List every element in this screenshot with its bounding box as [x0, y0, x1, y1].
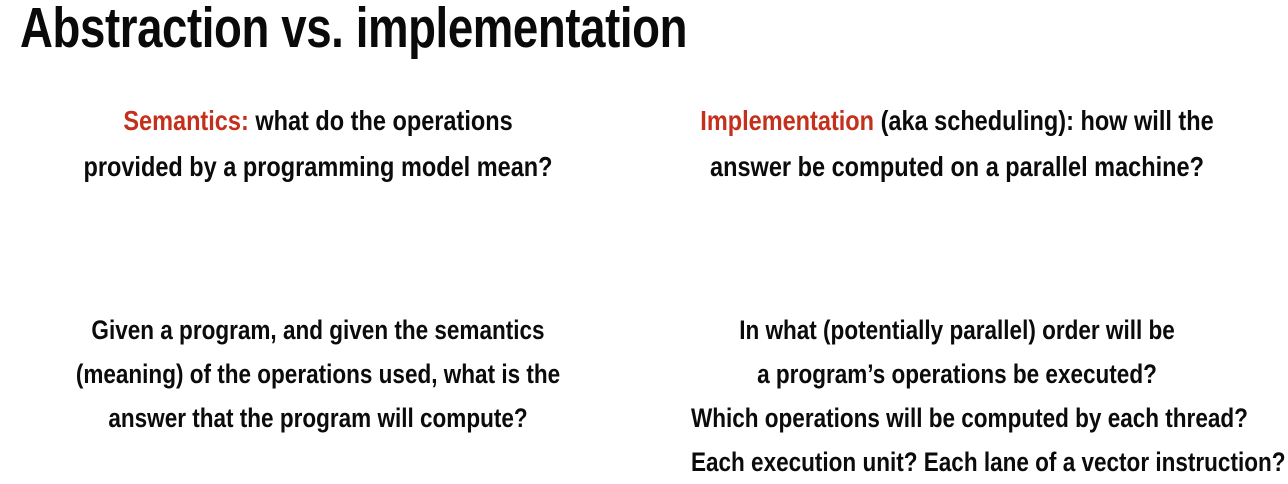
implementation-headline-line-1: Implementation (aka scheduling): how wil…	[689, 98, 1224, 144]
implementation-headline: Implementation (aka scheduling): how wil…	[644, 98, 1270, 190]
two-column-body: Semantics: what do the operations provid…	[0, 98, 1288, 484]
column-semantics: Semantics: what do the operations provid…	[0, 98, 636, 440]
left-column-spacer	[22, 190, 614, 308]
semantics-accent-label: Semantics:	[123, 105, 248, 136]
implementation-detail: In what (potentially parallel) order wil…	[644, 308, 1270, 484]
implementation-detail-line-1: In what (potentially parallel) order wil…	[691, 308, 1223, 352]
slide-canvas: Abstraction vs. implementation Semantics…	[0, 0, 1288, 467]
implementation-headline-text-1: (aka scheduling): how will the	[874, 105, 1214, 136]
implementation-detail-line-2: a program’s operations be executed?	[691, 352, 1223, 396]
semantics-headline-line-1: Semantics: what do the operations	[65, 98, 571, 144]
column-implementation: Implementation (aka scheduling): how wil…	[636, 98, 1288, 484]
page-title: Abstraction vs. implementation	[20, 0, 687, 60]
semantics-detail-line-2: (meaning) of the operations used, what i…	[66, 352, 569, 396]
semantics-headline: Semantics: what do the operations provid…	[22, 98, 614, 190]
semantics-headline-text-1: what do the operations	[249, 105, 513, 136]
implementation-accent-label: Implementation	[700, 105, 874, 136]
semantics-headline-line-2: provided by a programming model mean?	[65, 144, 571, 190]
semantics-detail-line-1: Given a program, and given the semantics	[66, 308, 569, 352]
semantics-detail-line-3: answer that the program will compute?	[66, 396, 569, 440]
semantics-detail: Given a program, and given the semantics…	[22, 308, 614, 440]
right-column-spacer	[644, 190, 1270, 308]
implementation-detail-line-3: Which operations will be computed by eac…	[691, 396, 1223, 440]
implementation-detail-line-4: Each execution unit? Each lane of a vect…	[691, 440, 1223, 484]
implementation-headline-line-2: answer be computed on a parallel machine…	[689, 144, 1224, 190]
